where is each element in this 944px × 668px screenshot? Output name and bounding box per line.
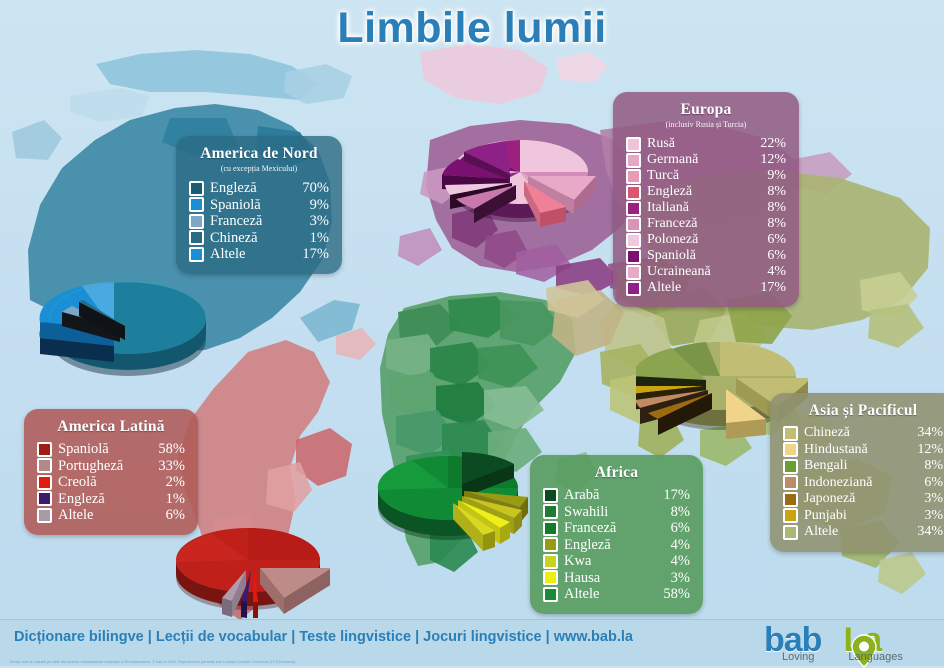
legend-label: Turcă (647, 168, 752, 184)
legend-swatch-icon (783, 426, 798, 441)
legend-item: Engleză8% (626, 184, 786, 200)
legend-label: Altele (564, 586, 656, 603)
legend-label: Hindustană (804, 442, 909, 459)
legend-swatch-icon (626, 201, 641, 216)
legend-label: Hausa (564, 570, 656, 587)
legend-item: Poloneză6% (626, 232, 786, 248)
legend-list-africa: Arabă17% Swahili8% Franceză6% Engleză4% … (543, 487, 690, 603)
legend-swatch-icon (543, 537, 558, 552)
footer-fine-print: Sursa: bab.la, bazată pe date din divers… (10, 660, 297, 664)
region-title: America de Nord (189, 145, 329, 163)
legend-value: 3% (909, 508, 943, 525)
legend-label: Germană (647, 152, 752, 168)
legend-swatch-icon (543, 587, 558, 602)
legend-value: 8% (752, 200, 786, 216)
legend-label: Altele (804, 524, 909, 541)
legend-value: 9% (295, 197, 329, 214)
legend-value: 33% (151, 458, 185, 475)
legend-item: Arabă17% (543, 487, 690, 504)
legend-value: 4% (752, 264, 786, 280)
legend-label: Chineză (210, 230, 295, 247)
legend-item: Engleză4% (543, 537, 690, 554)
legend-label: Chineză (804, 425, 909, 442)
legend-item: Altele34% (783, 524, 943, 541)
legend-swatch-icon (189, 181, 204, 196)
legend-item: Punjabi3% (783, 508, 943, 525)
info-box-europe: Europa (inclusiv Rusia și Turcia) Rusă22… (613, 92, 799, 307)
legend-item: Engleză1% (37, 491, 185, 508)
legend-value: 34% (909, 425, 943, 442)
legend-swatch-icon (189, 247, 204, 262)
legend-item: Engleză70% (189, 180, 329, 197)
legend-value: 6% (909, 475, 943, 492)
legend-swatch-icon (37, 508, 52, 523)
legend-value: 4% (656, 553, 690, 570)
legend-item: Rusă22% (626, 136, 786, 152)
legend-value: 22% (752, 136, 786, 152)
region-subtitle (543, 483, 690, 487)
legend-swatch-icon (626, 137, 641, 152)
legend-value: 9% (752, 168, 786, 184)
legend-list-asia-pacific: Chineză34% Hindustană12% Bengali8% Indon… (783, 425, 943, 541)
legend-list-latin-america: Spaniolă58% Portugheză33% Creolă2% Engle… (37, 441, 185, 524)
legend-label: Altele (647, 280, 752, 296)
legend-item: Germană12% (626, 152, 786, 168)
legend-swatch-icon (189, 214, 204, 229)
legend-label: Kwa (564, 553, 656, 570)
legend-label: Engleză (564, 537, 656, 554)
infographic-root: Limbile lumii (0, 0, 944, 666)
legend-swatch-icon (543, 504, 558, 519)
region-subtitle: (inclusiv Rusia și Turcia) (626, 120, 786, 129)
legend-value: 58% (151, 441, 185, 458)
legend-label: Spaniolă (210, 197, 295, 214)
legend-swatch-icon (783, 475, 798, 490)
legend-item: Japoneză3% (783, 491, 943, 508)
footer-links[interactable]: Dicționare bilingve | Lecții de vocabula… (14, 629, 633, 645)
legend-label: Punjabi (804, 508, 909, 525)
footer-bar: Dicționare bilingve | Lecții de vocabula… (0, 619, 944, 666)
region-subtitle (783, 421, 943, 425)
legend-swatch-icon (543, 521, 558, 536)
legend-swatch-icon (783, 492, 798, 507)
legend-swatch-icon (626, 217, 641, 232)
legend-label: Swahili (564, 504, 656, 521)
region-title: America Latină (37, 418, 185, 436)
legend-value: 1% (151, 491, 185, 508)
legend-label: Creolă (58, 474, 151, 491)
legend-swatch-icon (626, 233, 641, 248)
region-title: Africa (543, 464, 690, 482)
legend-swatch-icon (783, 525, 798, 540)
legend-label: Franceză (564, 520, 656, 537)
legend-swatch-icon (543, 554, 558, 569)
legend-value: 4% (656, 537, 690, 554)
pie-chart-europe (440, 128, 600, 240)
legend-value: 2% (151, 474, 185, 491)
legend-value: 12% (909, 442, 943, 459)
region-subtitle (37, 437, 185, 441)
info-box-latin-america: America Latină Spaniolă58% Portugheză33%… (24, 409, 198, 535)
legend-value: 6% (151, 507, 185, 524)
legend-value: 3% (909, 491, 943, 508)
legend-item: Altele6% (37, 507, 185, 524)
legend-item: Indoneziană6% (783, 475, 943, 492)
legend-value: 8% (752, 184, 786, 200)
tagline-loving: Loving (782, 651, 814, 663)
legend-item: Ucraineană4% (626, 264, 786, 280)
legend-label: Spaniolă (58, 441, 151, 458)
legend-swatch-icon (626, 185, 641, 200)
legend-swatch-icon (783, 508, 798, 523)
legend-value: 70% (295, 180, 329, 197)
legend-item: Franceză6% (543, 520, 690, 537)
legend-value: 17% (656, 487, 690, 504)
legend-swatch-icon (543, 570, 558, 585)
legend-item: Altele17% (189, 246, 329, 263)
legend-label: Engleză (58, 491, 151, 508)
legend-list-europe: Rusă22% Germană12% Turcă9% Engleză8% Ita… (626, 136, 786, 296)
info-box-africa: Africa Arabă17% Swahili8% Franceză6% Eng… (530, 455, 703, 614)
legend-value: 6% (656, 520, 690, 537)
legend-item: Creolă2% (37, 474, 185, 491)
legend-value: 6% (752, 248, 786, 264)
legend-label: Rusă (647, 136, 752, 152)
legend-swatch-icon (626, 153, 641, 168)
legend-swatch-icon (783, 459, 798, 474)
region-subtitle: (cu excepția Mexicului) (189, 164, 329, 173)
legend-item: Hausa3% (543, 570, 690, 587)
legend-value: 34% (909, 524, 943, 541)
legend-value: 6% (752, 232, 786, 248)
pie-chart-north-america (36, 268, 216, 394)
legend-item: Turcă9% (626, 168, 786, 184)
legend-swatch-icon (189, 197, 204, 212)
legend-value: 3% (656, 570, 690, 587)
legend-label: Ucraineană (647, 264, 752, 280)
legend-label: Franceză (647, 216, 752, 232)
legend-swatch-icon (626, 281, 641, 296)
legend-item: Altele17% (626, 280, 786, 296)
legend-value: 17% (752, 280, 786, 296)
legend-item: Bengali8% (783, 458, 943, 475)
logo-tagline: LovingLanguages (782, 651, 903, 663)
legend-swatch-icon (189, 230, 204, 245)
legend-value: 8% (752, 216, 786, 232)
region-title: Europa (626, 101, 786, 119)
map-region-arctic (420, 44, 608, 104)
legend-label: Franceză (210, 213, 295, 230)
legend-label: Spaniolă (647, 248, 752, 264)
pie-chart-latin-america (168, 520, 330, 632)
info-box-asia-pacific: Asia și Pacificul Chineză34% Hindustană1… (770, 393, 944, 552)
legend-value: 12% (752, 152, 786, 168)
legend-label: Engleză (647, 184, 752, 200)
legend-value: 8% (909, 458, 943, 475)
legend-item: Chineză34% (783, 425, 943, 442)
legend-value: 1% (295, 230, 329, 247)
legend-item: Swahili8% (543, 504, 690, 521)
legend-label: Altele (58, 507, 151, 524)
legend-label: Altele (210, 246, 295, 263)
legend-item: Altele58% (543, 586, 690, 603)
legend-item: Spaniolă6% (626, 248, 786, 264)
legend-swatch-icon (37, 491, 52, 506)
page-title: Limbile lumii (0, 4, 944, 53)
legend-label: Japoneză (804, 491, 909, 508)
legend-list-north-america: Engleză70% Spaniolă9% Franceză3% Chineză… (189, 180, 329, 263)
legend-swatch-icon (626, 249, 641, 264)
legend-item: Franceză3% (189, 213, 329, 230)
legend-item: Chineză1% (189, 230, 329, 247)
legend-label: Arabă (564, 487, 656, 504)
legend-item: Italiană8% (626, 200, 786, 216)
legend-swatch-icon (37, 458, 52, 473)
legend-label: Indoneziană (804, 475, 909, 492)
region-title: Asia și Pacificul (783, 402, 943, 420)
legend-swatch-icon (783, 442, 798, 457)
legend-swatch-icon (626, 169, 641, 184)
tagline-languages: Languages (848, 651, 902, 663)
legend-item: Franceză8% (626, 216, 786, 232)
legend-label: Poloneză (647, 232, 752, 248)
pie-chart-africa (372, 448, 532, 564)
legend-label: Engleză (210, 180, 295, 197)
legend-value: 17% (295, 246, 329, 263)
legend-item: Kwa4% (543, 553, 690, 570)
legend-item: Hindustană12% (783, 442, 943, 459)
legend-value: 58% (656, 586, 690, 603)
legend-value: 3% (295, 213, 329, 230)
legend-swatch-icon (543, 488, 558, 503)
legend-item: Spaniolă58% (37, 441, 185, 458)
legend-swatch-icon (37, 475, 52, 490)
legend-item: Spaniolă9% (189, 197, 329, 214)
legend-item: Portugheză33% (37, 458, 185, 475)
info-box-north-america: America de Nord (cu excepția Mexicului) … (176, 136, 342, 274)
legend-label: Portugheză (58, 458, 151, 475)
legend-value: 8% (656, 504, 690, 521)
legend-swatch-icon (37, 442, 52, 457)
legend-swatch-icon (626, 265, 641, 280)
legend-label: Bengali (804, 458, 909, 475)
babla-logo[interactable]: babLa LovingLanguages (756, 624, 936, 666)
legend-label: Italiană (647, 200, 752, 216)
